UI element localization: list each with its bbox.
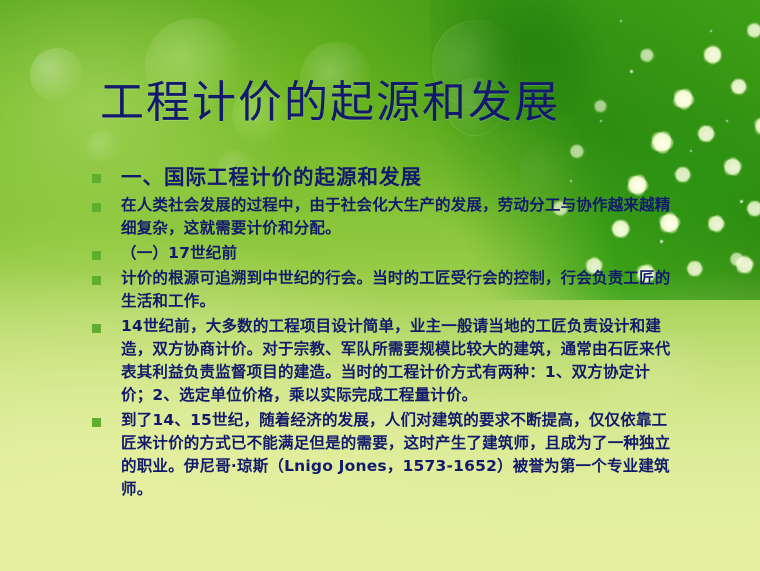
square-bullet-icon [92, 418, 101, 427]
square-bullet-icon [92, 251, 101, 260]
bullet-item-4: 计价的根源可追溯到中世纪的行会。当时的工匠受行会的控制，行会负责工匠的生活和工作… [92, 267, 676, 313]
slide-canvas: 工程计价的起源和发展 一、国际工程计价的起源和发展 在人类社会发展的过程中，由于… [0, 0, 760, 571]
bullet-text: 在人类社会发展的过程中，由于社会化大生产的发展，劳动分工与协作越来越精细复杂，这… [121, 194, 676, 240]
slide-title: 工程计价的起源和发展 [100, 74, 560, 132]
square-bullet-icon [92, 324, 101, 333]
bullet-text: 14世纪前，大多数的工程项目设计简单，业主一般请当地的工匠负责设计和建造，双方协… [121, 315, 676, 407]
bullet-item-1: 一、国际工程计价的起源和发展 [92, 162, 676, 192]
bullet-text: 到了14、15世纪，随着经济的发展，人们对建筑的要求不断提高，仅仅依靠工匠来计价… [121, 409, 676, 501]
bullet-item-5: 14世纪前，大多数的工程项目设计简单，业主一般请当地的工匠负责设计和建造，双方协… [92, 315, 676, 407]
bullet-text: （一）17世纪前 [121, 242, 676, 265]
square-bullet-icon [92, 174, 101, 183]
bullet-item-3: （一）17世纪前 [92, 242, 676, 265]
bullet-item-2: 在人类社会发展的过程中，由于社会化大生产的发展，劳动分工与协作越来越精细复杂，这… [92, 194, 676, 240]
bullet-text: 一、国际工程计价的起源和发展 [121, 162, 676, 192]
bullet-text: 计价的根源可追溯到中世纪的行会。当时的工匠受行会的控制，行会负责工匠的生活和工作… [121, 267, 676, 313]
bullet-item-6: 到了14、15世纪，随着经济的发展，人们对建筑的要求不断提高，仅仅依靠工匠来计价… [92, 409, 676, 501]
square-bullet-icon [92, 276, 101, 285]
slide-body: 一、国际工程计价的起源和发展 在人类社会发展的过程中，由于社会化大生产的发展，劳… [92, 162, 676, 503]
square-bullet-icon [92, 203, 101, 212]
